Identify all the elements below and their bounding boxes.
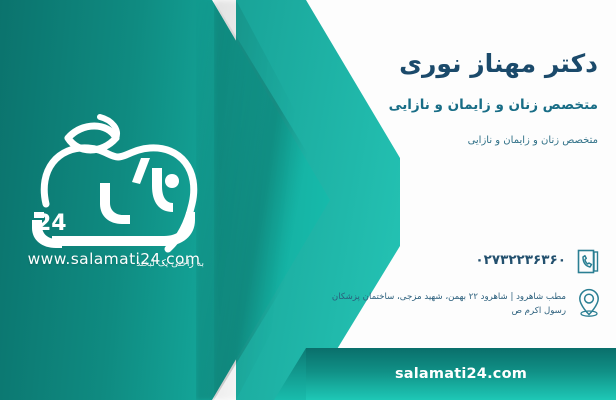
address-line-2: رسول اکرم ص [332,304,566,318]
phone-row[interactable]: ۰۲۷۳۲۲۳۶۳۶۰ [475,246,602,276]
address-text: مطب شاهرود | شاهرود ۲۲ بهمن، شهید مزجی، … [332,288,566,318]
map-pin-icon [575,288,602,318]
svg-text:24: 24 [36,211,67,236]
logo-website-url: www.salamati24.com [14,250,214,268]
footer-bar[interactable]: salamati24.com [306,348,616,400]
doctor-specialty-secondary: متخصص زنان و زایمان و نازایی [468,134,598,148]
footer-website: salamati24.com [395,366,527,382]
address-line-1: مطب شاهرود | شاهرود ۲۲ بهمن، شهید مزجی، … [332,292,566,302]
phone-number: ۰۲۷۳۲۲۳۶۳۶۰ [475,246,566,268]
doctor-specialty: متخصص زنان و زایمان و نازایی [389,96,598,115]
business-card: 24 به راحتی یک لبخند www.salamati24.com … [0,0,616,400]
doctor-name: دکتر مهناز نوری [399,49,598,79]
info-panel: دکتر مهناز نوری متخصص زنان و زایمان و نا… [300,0,616,400]
address-row[interactable]: مطب شاهرود | شاهرود ۲۲ بهمن، شهید مزجی، … [332,288,602,318]
phone-book-icon [575,246,602,276]
